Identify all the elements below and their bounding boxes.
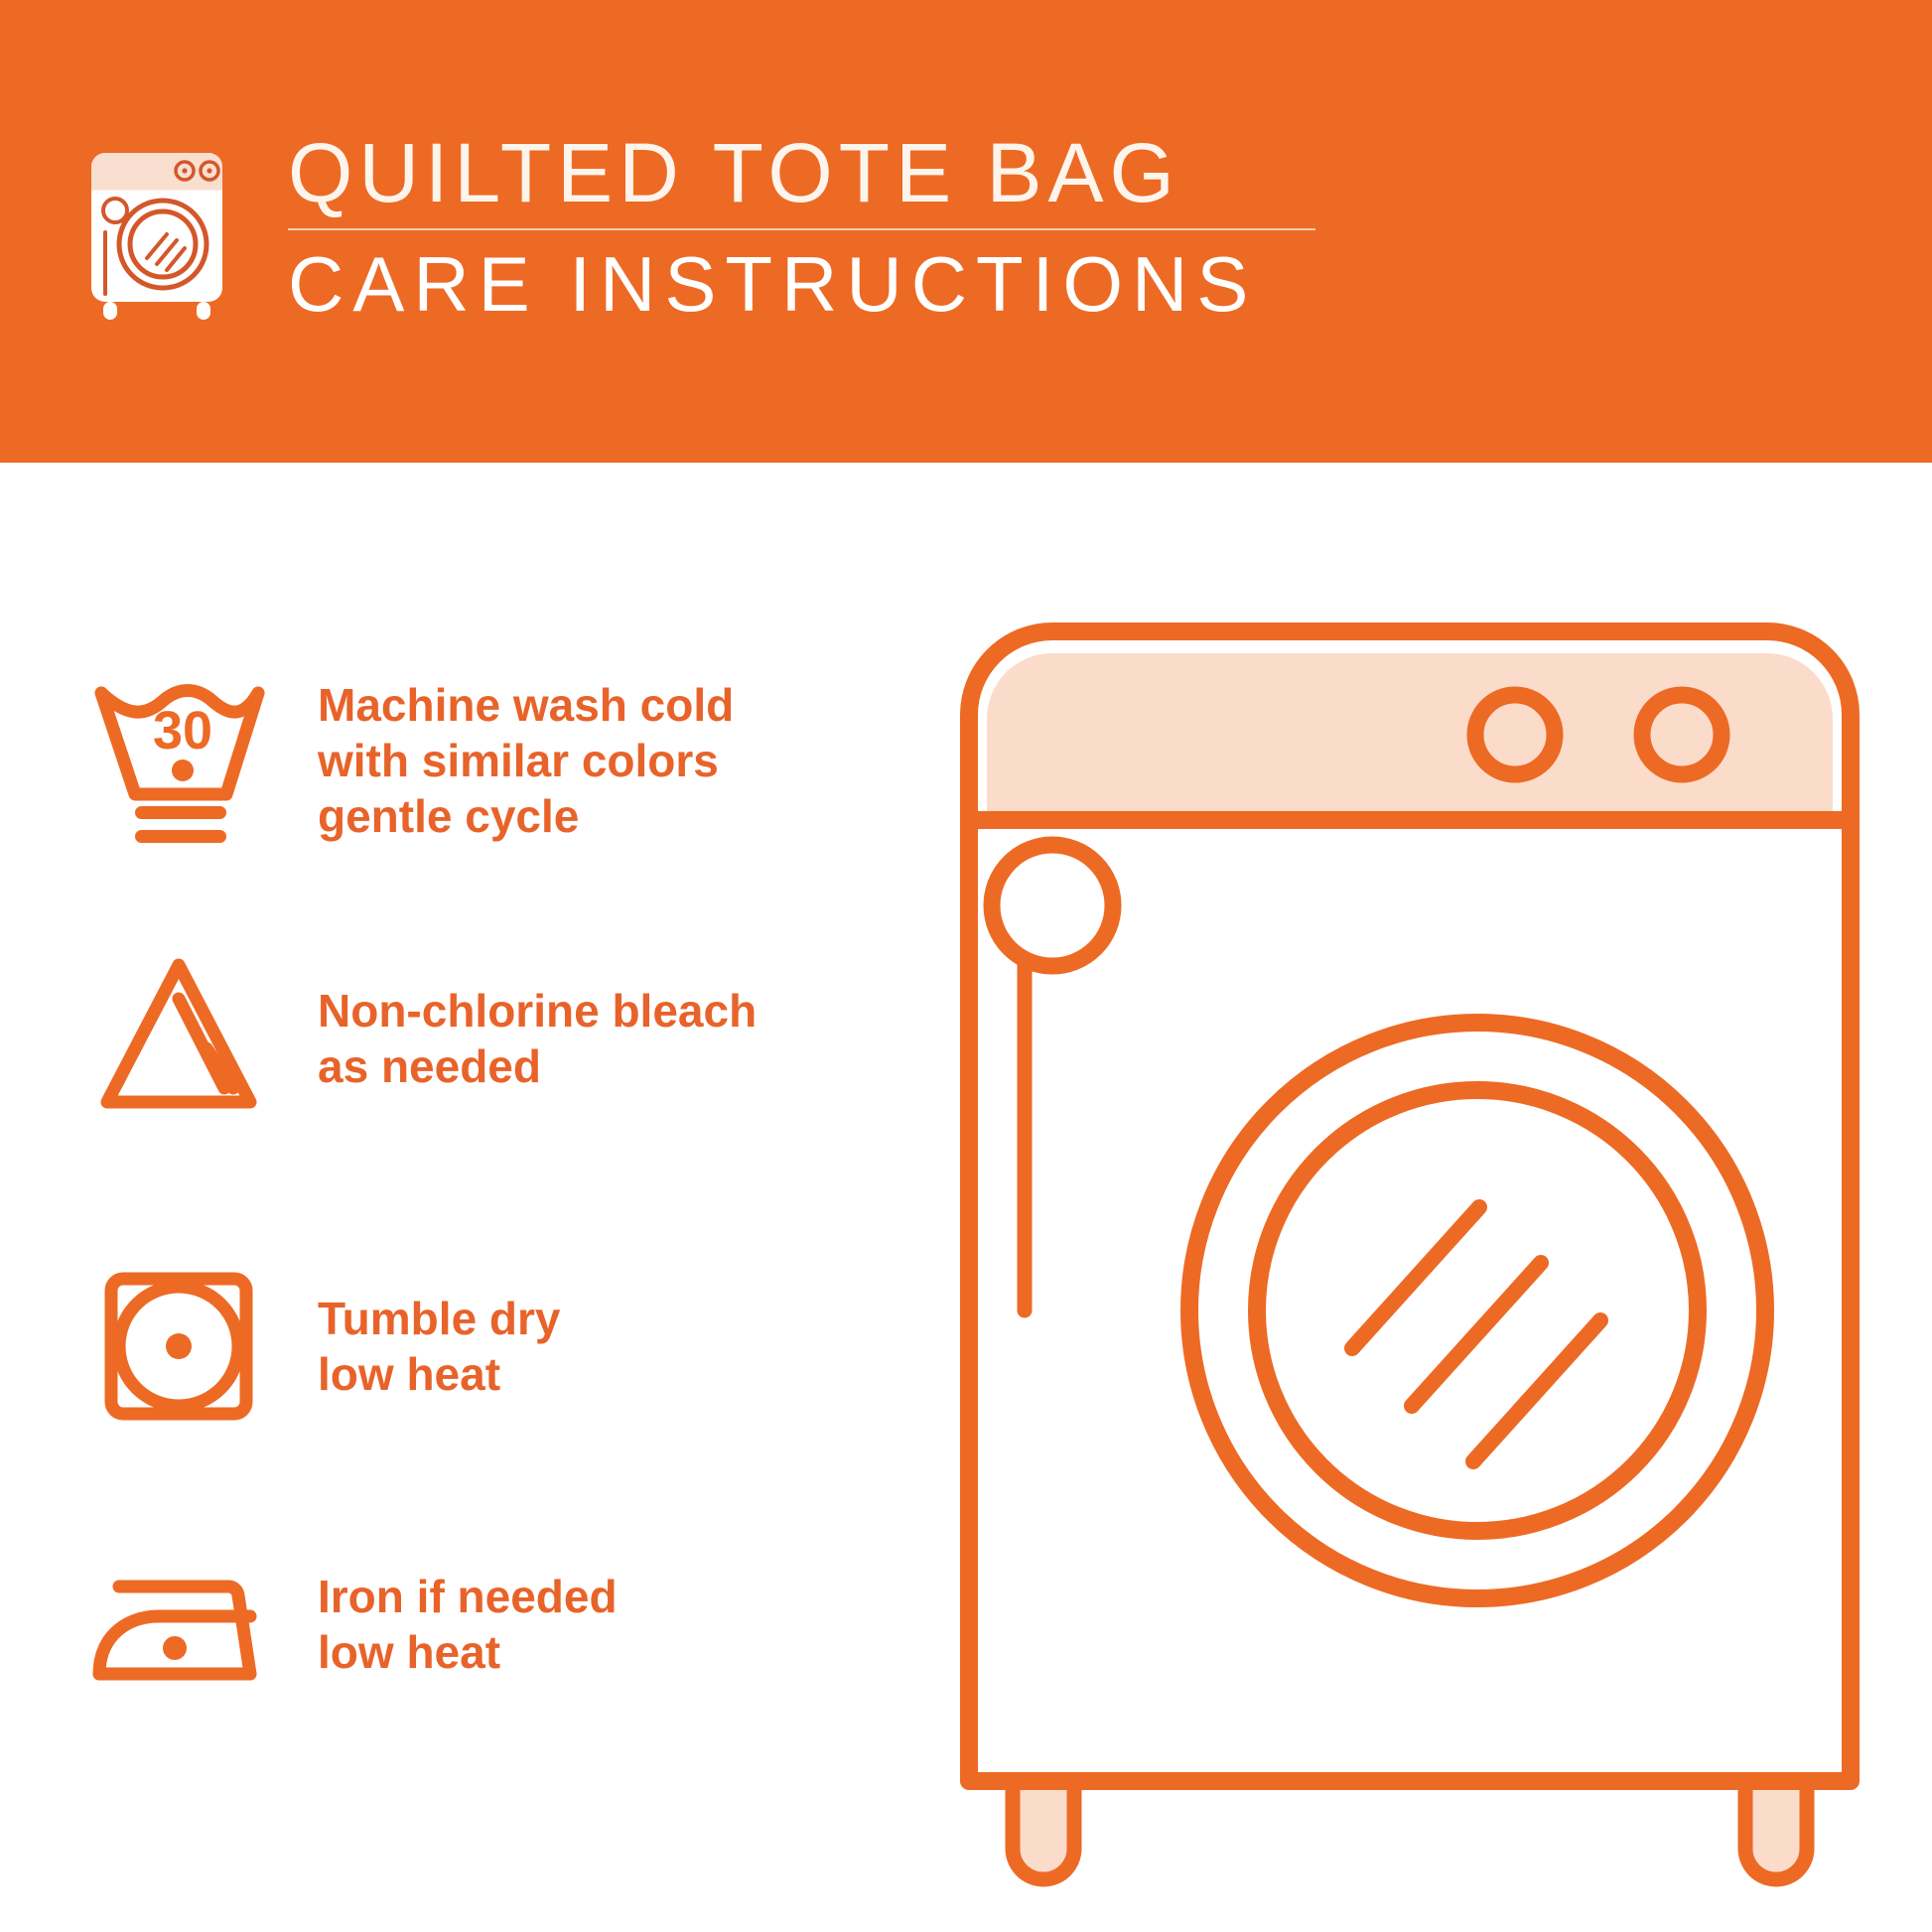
care-instructions-page: QUILTED TOTE BAG CARE INSTRUCTIONS 30 (0, 0, 1932, 1932)
care-label-bleach: Non-chlorine bleach as needed (318, 983, 757, 1094)
care-label-iron: Iron if needed low heat (318, 1569, 618, 1680)
header-inner: QUILTED TOTE BAG CARE INSTRUCTIONS (77, 127, 1318, 345)
care-row-tumble-dry: Tumble dry low heat (79, 1247, 913, 1446)
knob-left (1475, 695, 1555, 774)
tumble-dry-low-heat-icon (79, 1247, 278, 1446)
iron-low-heat-icon (79, 1525, 278, 1724)
svg-text:30: 30 (153, 701, 212, 760)
care-instruction-list: 30 Machine wash cold with similar colors… (0, 463, 953, 1932)
leg-right (1745, 1777, 1807, 1879)
knob-right (1642, 695, 1722, 774)
non-chlorine-bleach-triangle-icon (79, 939, 278, 1138)
page-title: QUILTED TOTE BAG (288, 127, 1320, 218)
header-band: QUILTED TOTE BAG CARE INSTRUCTIONS (0, 0, 1932, 463)
page-subtitle: CARE INSTRUCTIONS (288, 238, 1320, 330)
care-label-machine-wash: Machine wash cold with similar colors ge… (318, 677, 734, 844)
leg-left (1013, 1777, 1074, 1879)
care-row-bleach: Non-chlorine bleach as needed (79, 939, 913, 1138)
washing-machine-icon (77, 135, 236, 324)
washing-machine-illustration (953, 616, 1866, 1896)
care-row-machine-wash: 30 Machine wash cold with similar colors… (79, 661, 913, 860)
care-label-tumble-dry: Tumble dry low heat (318, 1291, 561, 1402)
title-divider (288, 228, 1315, 230)
header-text-block: QUILTED TOTE BAG CARE INSTRUCTIONS (288, 127, 1320, 330)
wash-tub-30-gentle-icon: 30 (79, 661, 278, 860)
care-row-iron: Iron if needed low heat (79, 1525, 913, 1724)
